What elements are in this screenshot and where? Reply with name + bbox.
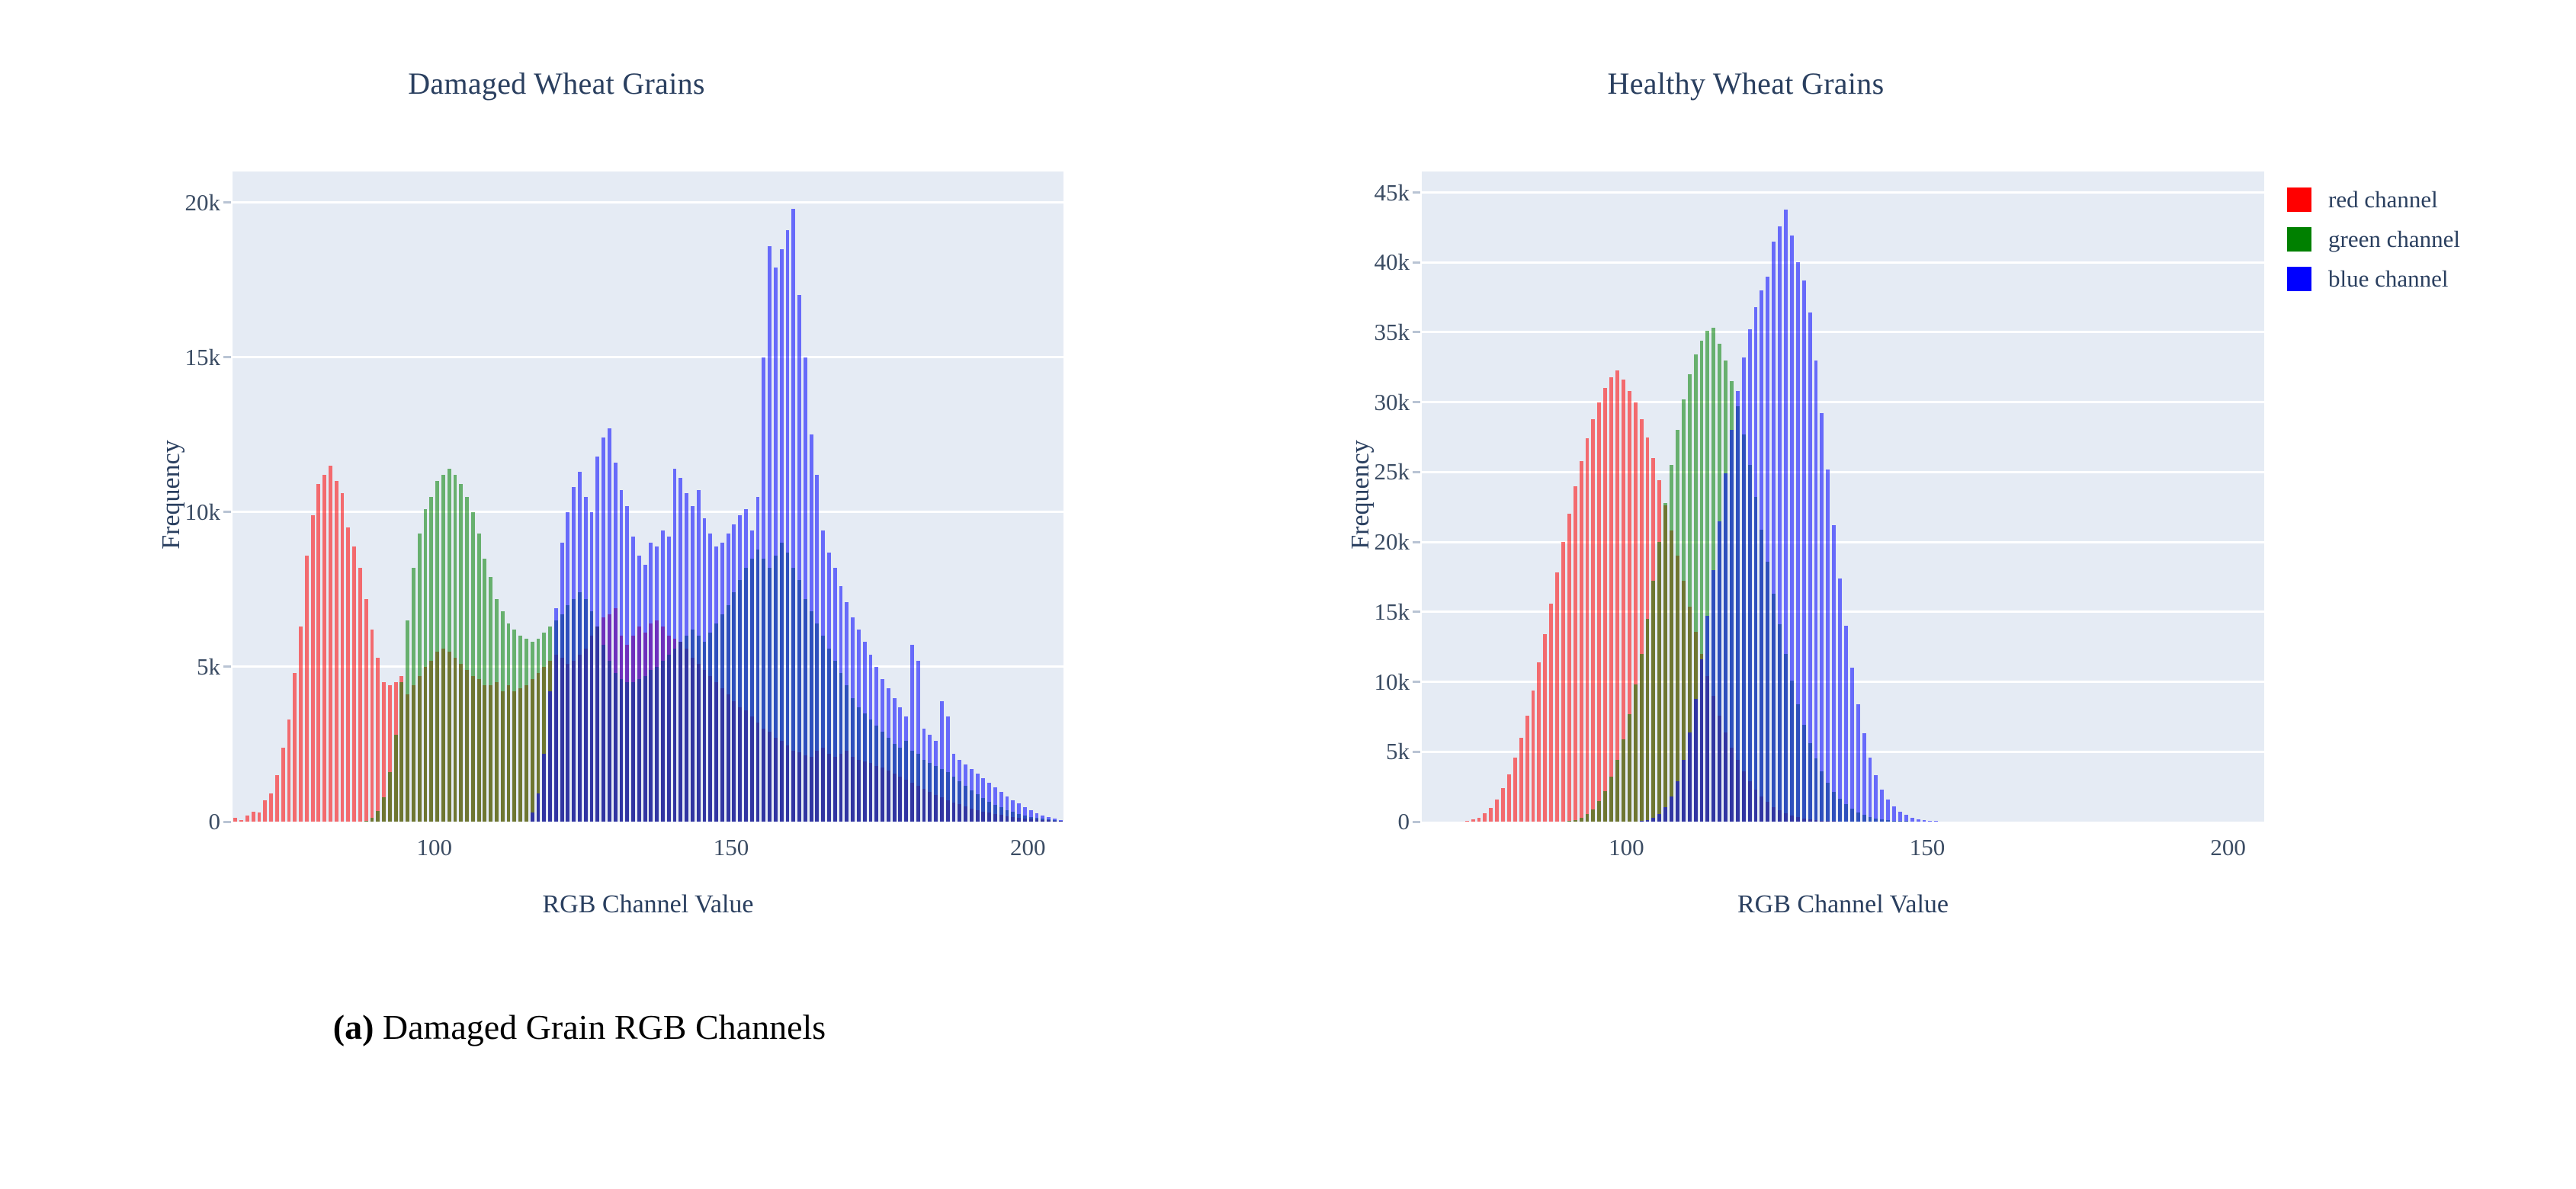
histogram-bar <box>1928 821 1932 822</box>
histogram-bar <box>768 246 772 822</box>
legend-swatch-icon <box>2287 227 2311 252</box>
gridline <box>1422 191 2264 194</box>
histogram-bar <box>1023 807 1027 822</box>
histogram-bar <box>649 543 653 822</box>
histogram-bar <box>1778 226 1782 822</box>
histogram-bar <box>1574 486 1577 822</box>
histogram-bar <box>418 534 422 822</box>
gridline <box>1422 471 2264 473</box>
histogram-bar <box>703 518 707 822</box>
histogram-bar <box>382 797 386 822</box>
histogram-bar <box>1869 758 1872 822</box>
histogram-bar <box>821 530 825 822</box>
y-tick-mark <box>223 201 231 204</box>
gridline <box>1422 541 2264 543</box>
histogram-bar <box>399 682 403 822</box>
y-tick-label: 30k <box>1375 389 1410 416</box>
histogram-bar <box>691 506 695 822</box>
histogram-bar <box>371 818 374 822</box>
histogram-bar <box>1657 814 1661 822</box>
y-tick-label: 0 <box>1398 808 1410 835</box>
histogram-bar <box>1586 814 1590 822</box>
histogram-bar <box>364 821 368 822</box>
histogram-bar <box>1053 819 1057 822</box>
histogram-bar <box>874 667 878 822</box>
histogram-bar <box>1519 738 1523 822</box>
histogram-bar <box>1784 210 1788 822</box>
plot-healthy: 05k10k15k20k25k30k35k40k45k100150200 <box>1235 0 2348 915</box>
histogram-bar <box>1591 809 1595 822</box>
histogram-bar <box>999 792 1003 822</box>
histogram-bar <box>981 778 985 822</box>
histogram-bar <box>620 490 624 822</box>
histogram-bar <box>287 719 291 822</box>
x-axis-title-healthy: RGB Channel Value <box>1422 890 2264 919</box>
histogram-bar <box>774 268 778 822</box>
histogram-bar <box>1477 818 1481 822</box>
y-tick-label: 15k <box>185 344 221 371</box>
legend-label: green channel <box>2328 226 2460 253</box>
histogram-bar <box>1790 236 1794 822</box>
legend: red channelgreen channelblue channel <box>2287 180 2460 299</box>
y-tick-mark <box>1413 331 1420 333</box>
histogram-bar <box>590 512 594 822</box>
gridline <box>1422 681 2264 683</box>
histogram-bar <box>335 481 338 822</box>
histogram-bar <box>1874 775 1878 822</box>
histogram-bar <box>810 434 813 822</box>
histogram-bar <box>1574 820 1577 822</box>
histogram-bar <box>1663 807 1667 822</box>
histogram-bar <box>371 630 374 822</box>
histogram-bar <box>252 812 255 822</box>
histogram-bar <box>1609 377 1613 822</box>
histogram-bar <box>1934 821 1938 822</box>
histogram-bar <box>952 754 956 822</box>
histogram-bar <box>1676 430 1679 822</box>
y-tick-mark <box>1413 401 1420 403</box>
histogram-bar <box>358 568 362 822</box>
histogram-bar <box>1580 461 1583 822</box>
histogram-bar <box>1663 503 1667 822</box>
legend-label: blue channel <box>2328 265 2449 293</box>
x-tick-label: 100 <box>1609 834 1644 861</box>
histogram-bar <box>1561 542 1565 822</box>
histogram-bar <box>245 816 249 822</box>
histogram-bar <box>1730 430 1734 822</box>
histogram-bar <box>412 568 415 822</box>
y-axis-title-damaged: Frequency <box>157 373 186 617</box>
histogram-bar <box>727 534 730 822</box>
histogram-bar <box>869 655 873 822</box>
histogram-bar <box>1580 818 1583 822</box>
legend-swatch-icon <box>2287 267 2311 291</box>
histogram-bar <box>1525 716 1529 822</box>
histogram-bar <box>1832 525 1836 822</box>
histogram-bar <box>1886 800 1890 822</box>
gridline <box>233 356 1063 358</box>
histogram-bar <box>780 249 784 822</box>
y-tick-label: 10k <box>1375 668 1410 696</box>
histogram-bar <box>1029 810 1033 822</box>
histogram-bar <box>910 645 914 822</box>
y-tick-mark <box>1413 751 1420 753</box>
histogram-bar <box>1011 800 1015 822</box>
histogram-bar <box>1622 739 1625 822</box>
histogram-bar <box>1670 796 1673 822</box>
histogram-bar <box>976 774 980 822</box>
histogram-bar <box>1651 818 1655 822</box>
histogram-bar <box>275 775 279 822</box>
histogram-bar <box>435 481 439 822</box>
histogram-bar <box>697 490 701 822</box>
histogram-bar <box>851 617 855 822</box>
histogram-bar <box>542 754 546 822</box>
histogram-bar <box>1711 570 1715 822</box>
y-tick-label: 20k <box>185 189 221 216</box>
histogram-bar <box>459 484 463 822</box>
histogram-bar <box>548 691 552 822</box>
histogram-bar <box>732 524 736 822</box>
histogram-bar <box>525 639 528 822</box>
histogram-bar <box>376 811 380 822</box>
histogram-bar <box>1603 388 1607 822</box>
histogram-bar <box>1748 329 1752 822</box>
histogram-bar <box>1808 312 1812 822</box>
histogram-bar <box>454 475 457 822</box>
histogram-bar <box>964 764 967 822</box>
histogram-bar <box>1910 818 1914 822</box>
histogram-bar <box>608 428 611 822</box>
histogram-bar <box>1917 819 1920 822</box>
histogram-bar <box>1742 357 1746 822</box>
histogram-bar <box>934 741 938 822</box>
histogram-bar <box>341 493 345 822</box>
histogram-bar <box>429 497 433 822</box>
histogram-bar <box>1826 470 1830 822</box>
histogram-bar <box>269 793 273 822</box>
histogram-bar <box>1724 473 1727 822</box>
histogram-bar <box>1501 788 1505 822</box>
histogram-bar <box>631 537 635 822</box>
histogram-bar <box>839 586 843 822</box>
histogram-bar <box>1904 815 1908 822</box>
gridline <box>233 201 1063 204</box>
histogram-bar <box>1035 813 1039 822</box>
histogram-bar <box>258 812 261 822</box>
legend-item-blue[interactable]: blue channel <box>2287 259 2460 299</box>
histogram-bar <box>1646 820 1650 822</box>
y-tick-label: 15k <box>1375 598 1410 626</box>
histogram-bar <box>714 546 718 822</box>
histogram-bar <box>281 748 285 822</box>
plot-area-healthy <box>1422 171 2264 822</box>
histogram-bar <box>1615 370 1619 822</box>
histogram-bar <box>1609 777 1613 822</box>
histogram-bar <box>1850 668 1854 822</box>
histogram-bar <box>263 800 267 822</box>
histogram-bar <box>424 509 428 822</box>
histogram-bar <box>566 512 569 822</box>
plot-damaged: 05k10k15k20k100150200 <box>46 0 1159 915</box>
y-tick-mark <box>1413 191 1420 194</box>
gridline <box>233 511 1063 513</box>
y-tick-mark <box>1413 681 1420 683</box>
figure-panels: Damaged Wheat Grains 05k10k15k20k1001502… <box>0 0 2576 1189</box>
histogram-bar <box>1856 704 1860 822</box>
histogram-bar <box>1766 277 1769 822</box>
histogram-bar <box>655 546 659 822</box>
histogram-bar <box>786 230 790 822</box>
histogram-bar <box>1736 391 1740 822</box>
histogram-bar <box>815 475 819 822</box>
histogram-bar <box>465 497 469 822</box>
histogram-bar <box>940 701 944 822</box>
y-tick-label: 10k <box>185 498 221 526</box>
histogram-bar <box>578 472 582 822</box>
y-tick-mark <box>223 821 231 823</box>
histogram-bar <box>661 530 665 822</box>
histogram-bar <box>958 760 961 822</box>
histogram-bar <box>673 469 677 822</box>
histogram-bar <box>1802 280 1806 822</box>
y-tick-mark <box>223 356 231 358</box>
histogram-bar <box>1495 800 1499 822</box>
histogram-bar <box>1898 812 1902 822</box>
histogram-bar <box>1700 659 1704 822</box>
histogram-bar <box>1471 819 1475 822</box>
x-tick-label: 200 <box>1010 834 1046 861</box>
y-tick-mark <box>1413 611 1420 613</box>
y-tick-mark <box>1413 471 1420 473</box>
histogram-bar <box>1651 581 1655 822</box>
histogram-bar <box>1670 465 1673 822</box>
gridline <box>1422 751 2264 753</box>
histogram-bar <box>364 599 368 822</box>
histogram-bar <box>738 515 742 822</box>
histogram-bar <box>1640 821 1644 822</box>
histogram-bar <box>595 457 599 822</box>
histogram-bar <box>987 783 991 822</box>
histogram-bar <box>489 577 492 822</box>
y-tick-label: 40k <box>1375 248 1410 276</box>
histogram-bar <box>1059 820 1063 822</box>
histogram-bar <box>1597 801 1601 822</box>
histogram-bar <box>1772 242 1776 822</box>
legend-swatch-icon <box>2287 187 2311 212</box>
histogram-bar <box>797 295 801 822</box>
histogram-bar <box>643 565 647 822</box>
histogram-bar <box>898 707 902 822</box>
histogram-bar <box>501 611 505 822</box>
histogram-bar <box>791 209 795 822</box>
histogram-bar <box>316 484 320 822</box>
x-tick-label: 150 <box>714 834 749 861</box>
histogram-bar <box>863 642 867 822</box>
gridline <box>1422 331 2264 333</box>
histogram-bar <box>1543 634 1547 822</box>
histogram-bar <box>554 608 558 822</box>
y-tick-label: 45k <box>1375 179 1410 207</box>
histogram-bar <box>614 463 618 822</box>
histogram-bar <box>1694 699 1698 822</box>
caption-tag-a: (a) <box>333 1008 374 1046</box>
x-tick-label: 100 <box>416 834 452 861</box>
histogram-bar <box>970 769 974 822</box>
histogram-bar <box>1820 413 1824 822</box>
y-tick-label: 5k <box>197 653 220 681</box>
histogram-bar <box>299 627 303 822</box>
histogram-bar <box>857 630 861 822</box>
histogram-bar <box>1682 399 1686 822</box>
histogram-bar <box>1844 626 1848 822</box>
y-tick-mark <box>1413 821 1420 823</box>
y-tick-mark <box>223 511 231 513</box>
histogram-bar <box>667 537 671 822</box>
histogram-bar <box>518 636 522 822</box>
histogram-bar <box>1814 361 1818 822</box>
histogram-bar <box>946 716 950 822</box>
histogram-bar <box>1006 796 1009 822</box>
histogram-bar <box>394 735 398 822</box>
histogram-bar <box>477 534 481 822</box>
y-tick-label: 25k <box>1375 458 1410 486</box>
histogram-bar <box>804 357 807 822</box>
histogram-bar <box>1615 760 1619 822</box>
histogram-bar <box>584 497 588 822</box>
histogram-bar <box>625 506 629 822</box>
histogram-bar <box>1676 781 1679 822</box>
y-axis-title-healthy: Frequency <box>1346 373 1375 617</box>
y-tick-label: 5k <box>1386 738 1410 765</box>
histogram-bar <box>744 509 748 822</box>
histogram-bar <box>881 679 884 822</box>
histogram-bar <box>531 642 534 822</box>
histogram-bar <box>495 599 499 822</box>
histogram-bar <box>322 475 326 822</box>
histogram-bar <box>685 493 688 822</box>
histogram-bar <box>893 698 897 822</box>
histogram-bar <box>531 812 534 822</box>
histogram-bar <box>601 437 605 822</box>
histogram-bar <box>1041 816 1044 822</box>
x-tick-label: 150 <box>1910 834 1946 861</box>
histogram-bar <box>1549 604 1553 822</box>
histogram-bar <box>483 559 486 822</box>
histogram-bar <box>233 818 237 822</box>
y-tick-label: 0 <box>209 808 221 835</box>
histogram-bar <box>1682 760 1686 822</box>
histogram-bar <box>1688 732 1692 822</box>
histogram-bar <box>720 543 724 822</box>
histogram-bar <box>1513 758 1517 822</box>
histogram-bar <box>507 623 511 822</box>
histogram-bar <box>1483 813 1487 822</box>
histogram-bar <box>916 661 920 822</box>
histogram-bar <box>928 735 932 822</box>
histogram-bar <box>904 716 908 822</box>
plot-area-damaged <box>233 171 1063 822</box>
histogram-bar <box>537 793 541 822</box>
legend-item-red[interactable]: red channel <box>2287 180 2460 220</box>
histogram-bar <box>1603 791 1607 822</box>
histogram-bar <box>637 556 641 822</box>
histogram-bar <box>512 630 516 822</box>
legend-label: red channel <box>2328 186 2438 213</box>
histogram-bar <box>1532 691 1535 822</box>
y-tick-mark <box>1413 261 1420 264</box>
histogram-bar <box>293 673 297 822</box>
histogram-bar <box>1628 714 1631 822</box>
histogram-bar <box>1862 733 1866 822</box>
histogram-bar <box>1634 684 1638 822</box>
histogram-bar <box>441 475 445 822</box>
histogram-bar <box>1640 654 1644 822</box>
histogram-bar <box>406 620 409 822</box>
legend-item-green[interactable]: green channel <box>2287 220 2460 259</box>
histogram-bar <box>678 478 682 822</box>
caption-damaged: (a) Damaged Grain RGB Channels <box>282 1005 877 1051</box>
histogram-bar <box>833 568 837 822</box>
histogram-bar <box>750 530 754 822</box>
histogram-bar <box>1796 262 1800 822</box>
histogram-bar <box>1646 619 1650 822</box>
histogram-bar <box>845 602 849 822</box>
histogram-bar <box>1567 821 1571 822</box>
histogram-bar <box>352 546 356 822</box>
histogram-bar <box>346 527 350 822</box>
histogram-bar <box>239 820 243 822</box>
y-tick-mark <box>1413 541 1420 543</box>
histogram-bar <box>329 466 332 822</box>
histogram-bar <box>1838 578 1842 822</box>
histogram-bar <box>708 534 712 822</box>
histogram-bar <box>1718 521 1721 822</box>
x-tick-label: 200 <box>2210 834 2246 861</box>
x-axis-title-damaged: RGB Channel Value <box>233 890 1063 919</box>
histogram-bar <box>756 497 760 822</box>
histogram-bar <box>993 787 997 822</box>
histogram-bar <box>1705 616 1709 822</box>
histogram-bar <box>887 688 890 822</box>
histogram-bar <box>827 553 831 822</box>
y-tick-mark <box>223 665 231 668</box>
histogram-bar <box>1047 817 1051 822</box>
histogram-bar <box>471 512 475 822</box>
histogram-bar <box>1017 803 1021 822</box>
gridline <box>233 665 1063 668</box>
histogram-bar <box>305 556 309 822</box>
histogram-bar <box>1923 820 1926 822</box>
histogram-bar <box>1537 662 1541 822</box>
histogram-bar <box>1586 438 1590 822</box>
histogram-bar <box>1465 821 1469 822</box>
histogram-bar <box>1507 774 1511 822</box>
histogram-bar <box>1892 806 1896 822</box>
histogram-bar <box>1591 419 1595 822</box>
y-tick-label: 20k <box>1375 528 1410 556</box>
y-tick-label: 35k <box>1375 319 1410 346</box>
gridline <box>1422 611 2264 613</box>
histogram-bar <box>1880 790 1884 822</box>
histogram-bar <box>448 469 451 822</box>
histogram-bar <box>1754 307 1758 822</box>
histogram-bar <box>572 487 576 822</box>
histogram-bar <box>1555 572 1559 822</box>
histogram-bar <box>376 658 380 822</box>
gridline <box>1422 401 2264 403</box>
histogram-bar <box>1657 542 1661 822</box>
